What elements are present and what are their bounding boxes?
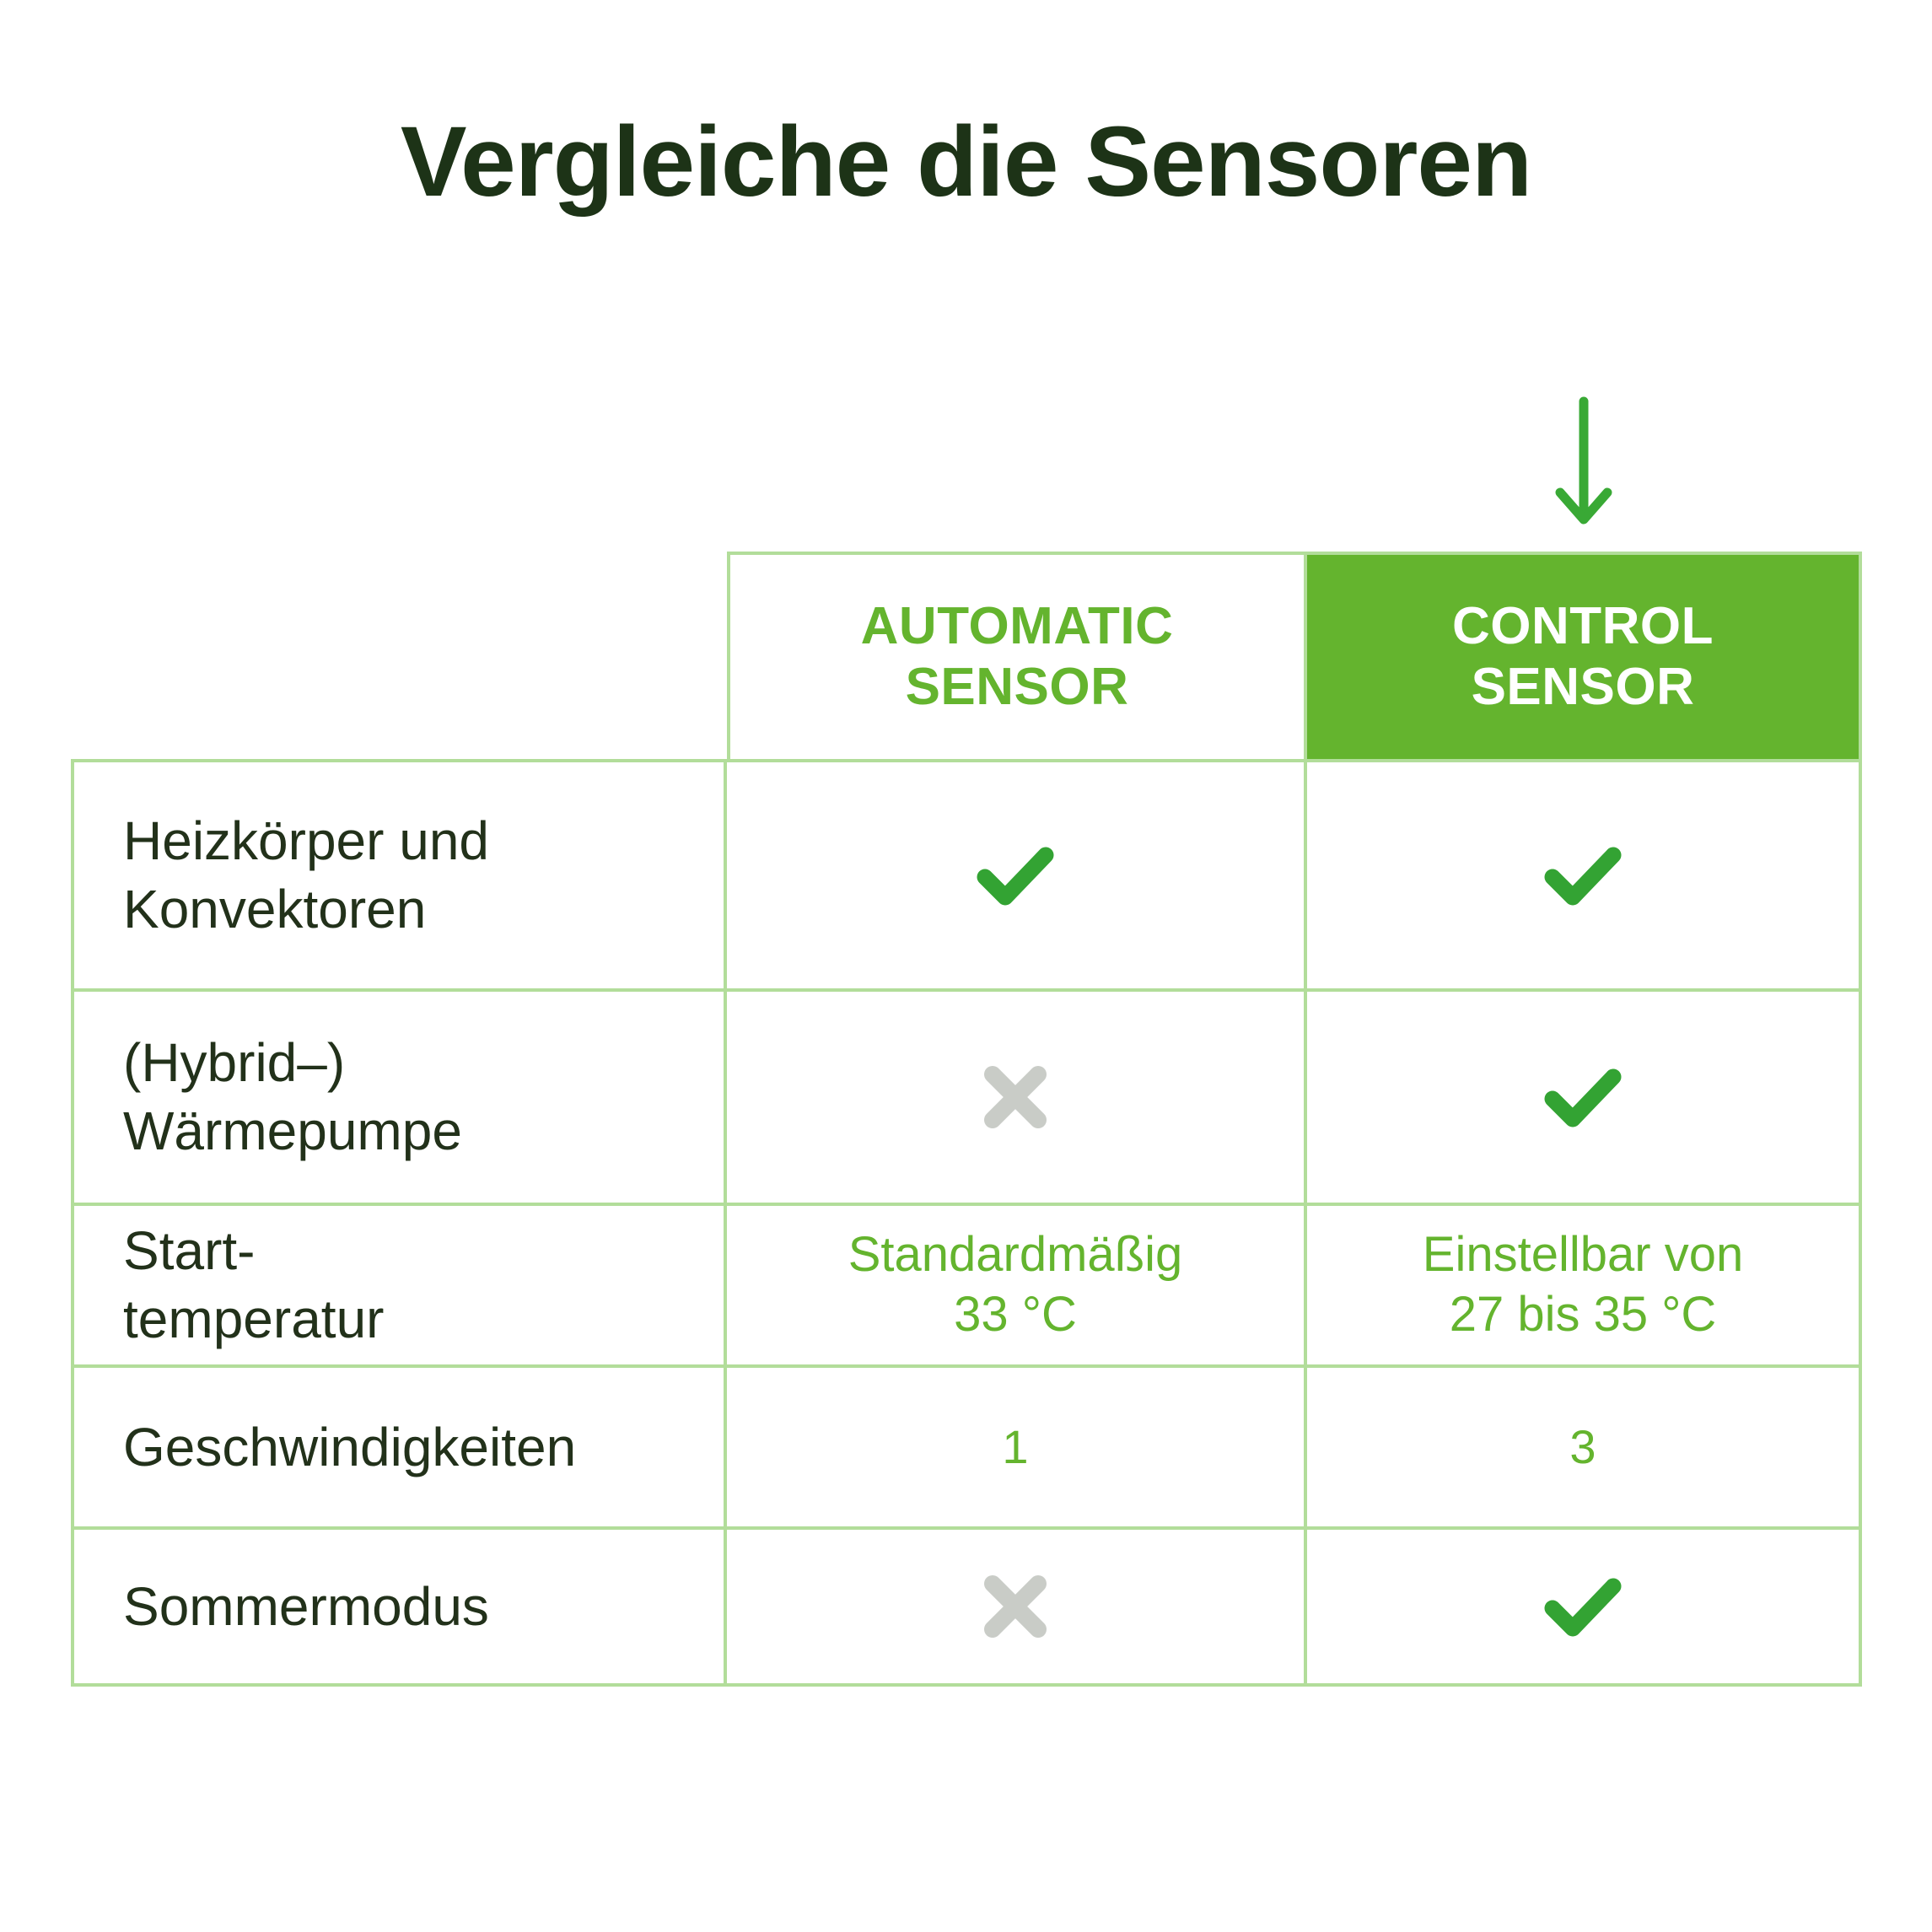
cross-icon	[969, 1051, 1062, 1144]
column-header-automatic-line2: SENSOR	[861, 657, 1174, 718]
value-text-line1: Einstellbar von	[1423, 1225, 1743, 1285]
cell-control-row4: 3	[1307, 1364, 1862, 1526]
row-label-line2: Konvektoren	[123, 875, 489, 944]
table-corner-empty	[71, 552, 727, 759]
row-label-line1: Start-	[123, 1217, 384, 1285]
cell-control-row5	[1307, 1526, 1862, 1687]
row-label-line1: Heizkörper und	[123, 807, 489, 875]
cell-automatic-row1	[727, 759, 1307, 988]
comparison-infographic: Vergleiche die Sensoren AUTOMATIC SENSOR	[0, 0, 1932, 1932]
value-number: 3	[1569, 1418, 1596, 1476]
cross-icon	[969, 1560, 1062, 1653]
row-label-line1: Geschwindigkeiten	[123, 1413, 576, 1482]
comparison-table: AUTOMATIC SENSOR CONTROL SENSOR Heizkörp…	[71, 552, 1862, 1811]
page-title: Vergleiche die Sensoren	[0, 108, 1932, 218]
row-label-line2: temperatur	[123, 1285, 384, 1353]
cell-control-row1	[1307, 759, 1862, 988]
value-text-line2: 27 bis 35 °C	[1423, 1285, 1743, 1345]
arrow-down-icon	[1536, 395, 1631, 530]
cell-automatic-row5	[727, 1526, 1307, 1687]
table-row: Sommermodus	[71, 1526, 727, 1687]
value-text-line1: Standardmäßig	[848, 1225, 1183, 1285]
check-icon	[1532, 825, 1633, 926]
column-header-control-line2: SENSOR	[1452, 657, 1714, 718]
cell-automatic-row4: 1	[727, 1364, 1307, 1526]
table-row: Heizkörper und Konvektoren	[71, 759, 727, 988]
cell-control-row3: Einstellbar von 27 bis 35 °C	[1307, 1203, 1862, 1364]
column-header-automatic-sensor: AUTOMATIC SENSOR	[727, 552, 1307, 759]
cell-control-row2	[1307, 988, 1862, 1203]
column-header-automatic-line1: AUTOMATIC	[861, 596, 1174, 657]
value-text-line2: 33 °C	[848, 1285, 1183, 1345]
column-header-control-line1: CONTROL	[1452, 596, 1714, 657]
row-label-line1: (Hybrid–)	[123, 1029, 462, 1097]
cell-automatic-row2	[727, 988, 1307, 1203]
row-label-line1: Sommermodus	[123, 1573, 489, 1641]
table-row: Start- temperatur	[71, 1203, 727, 1364]
table-row: (Hybrid–) Wärmepumpe	[71, 988, 727, 1203]
check-icon	[1532, 1047, 1633, 1148]
column-header-control-sensor: CONTROL SENSOR	[1307, 552, 1862, 759]
check-icon	[965, 825, 1066, 926]
row-label-line2: Wärmepumpe	[123, 1097, 462, 1165]
cell-automatic-row3: Standardmäßig 33 °C	[727, 1203, 1307, 1364]
table-row: Geschwindigkeiten	[71, 1364, 727, 1526]
value-number: 1	[1002, 1418, 1028, 1476]
check-icon	[1532, 1556, 1633, 1657]
